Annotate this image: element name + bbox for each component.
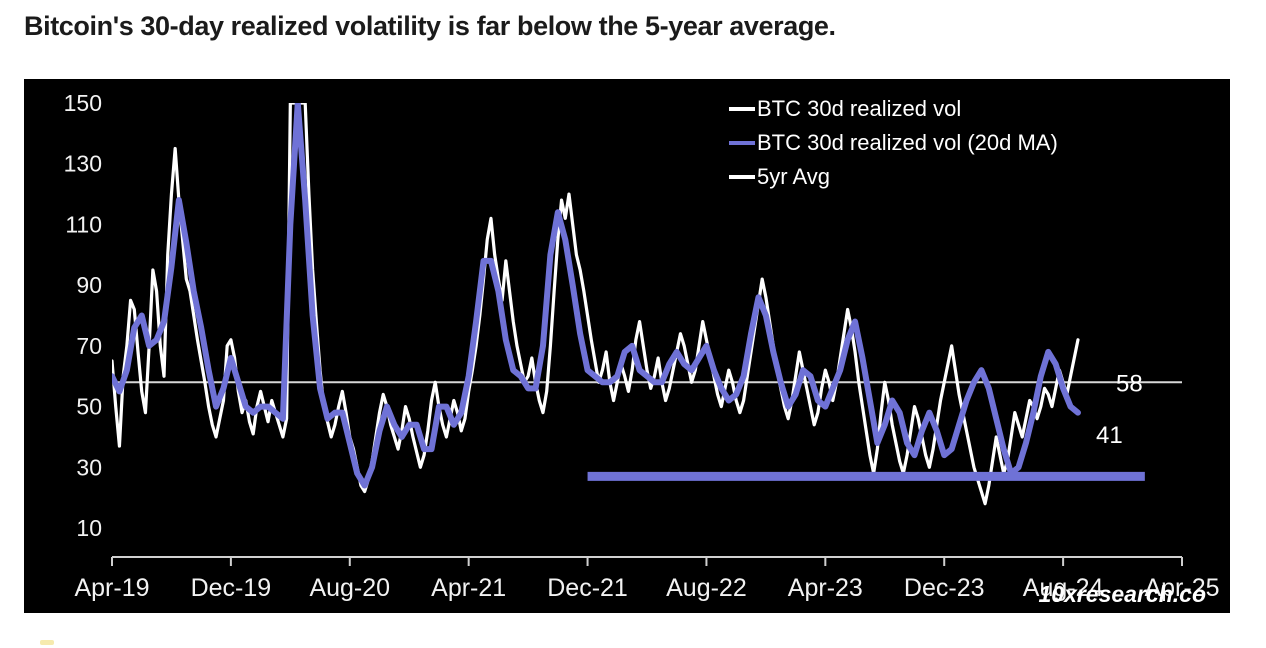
page-title: Bitcoin's 30-day realized volatility is …	[24, 11, 1224, 42]
x-tick-label: Aug-22	[666, 574, 747, 602]
y-tick-label: 110	[65, 211, 102, 237]
chart-page: Bitcoin's 30-day realized volatility is …	[0, 0, 1266, 648]
x-tick-label: Apr-19	[74, 574, 149, 602]
volatility-chart: 1030507090110130150 Apr-19Dec-19Aug-20Ap…	[24, 79, 1230, 613]
y-tick-label: 50	[76, 394, 102, 420]
x-tick-label: Apr-21	[431, 574, 506, 602]
last-value-label: 41	[1096, 422, 1123, 449]
watermark: 10xresearch.co	[1038, 581, 1206, 607]
avg-value-label: 58	[1116, 370, 1143, 397]
legend-label: 5yr Avg	[757, 164, 830, 189]
x-tick-label: Dec-23	[904, 574, 985, 602]
y-tick-label: 90	[76, 272, 102, 298]
y-tick-label: 150	[64, 90, 102, 116]
x-tick-label: Apr-23	[788, 574, 863, 602]
legend-label: BTC 30d realized vol (20d MA)	[757, 130, 1058, 155]
y-tick-label: 10	[76, 515, 102, 541]
x-tick-label: Dec-21	[547, 574, 628, 602]
footer-marker	[40, 640, 54, 645]
chart-panel: 1030507090110130150 Apr-19Dec-19Aug-20Ap…	[24, 79, 1230, 613]
y-tick-label: 30	[76, 454, 102, 480]
y-tick-label: 130	[64, 151, 102, 177]
legend-label: BTC 30d realized vol	[757, 96, 961, 121]
x-tick-label: Aug-20	[309, 574, 390, 602]
y-tick-label: 70	[76, 333, 102, 359]
x-tick-label: Dec-19	[191, 574, 272, 602]
